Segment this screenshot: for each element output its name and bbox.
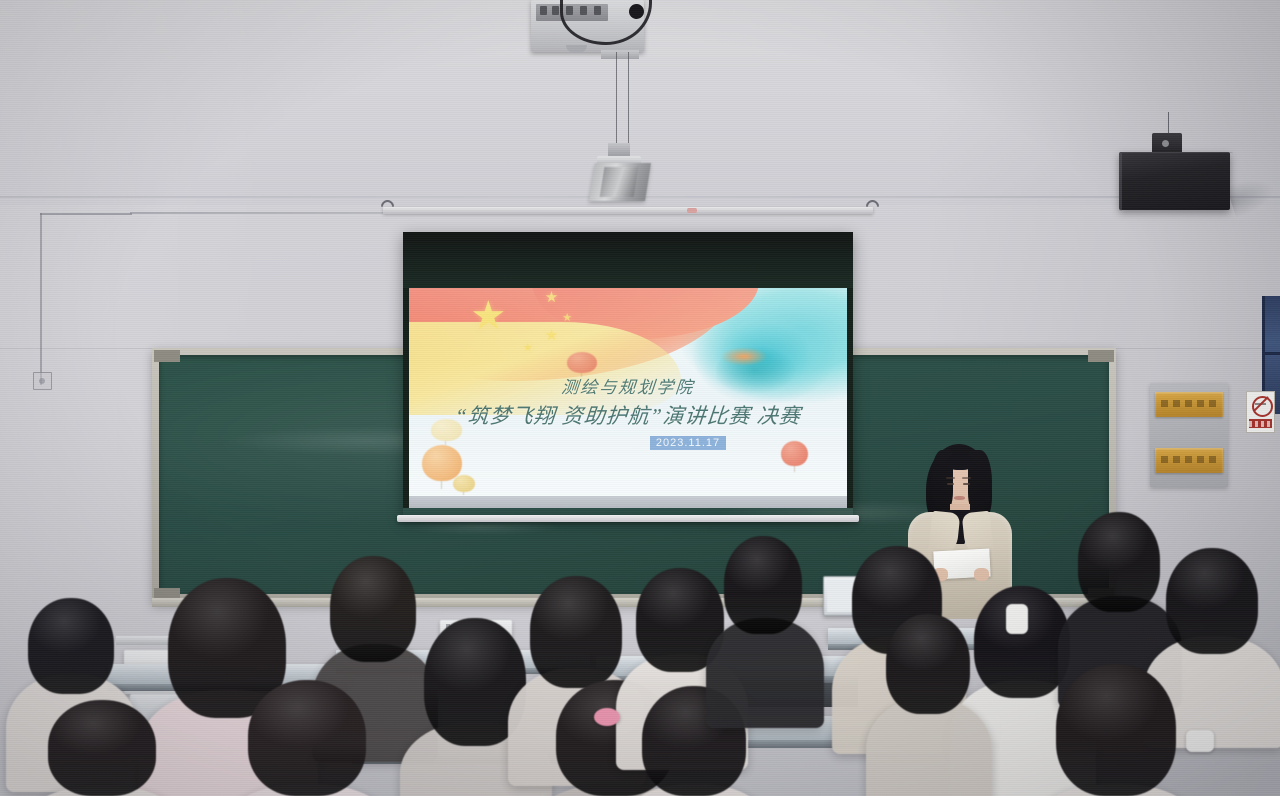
sign-label-text xyxy=(1249,421,1272,427)
flag-star-icon: ★ xyxy=(562,313,572,324)
plaque-text-lines xyxy=(1161,400,1217,407)
slide-orange-blob xyxy=(720,347,768,366)
light-tube xyxy=(600,167,639,197)
hanging-wire xyxy=(628,52,629,144)
audience-member-head xyxy=(886,614,970,714)
audience-member-head xyxy=(1166,548,1258,654)
audience-member-hair xyxy=(1078,512,1160,612)
light-mount xyxy=(608,143,630,156)
projector-knob xyxy=(629,4,644,19)
speaker-bracket-screw xyxy=(1162,140,1169,147)
wall-plaque xyxy=(1155,392,1223,417)
speaker-edge xyxy=(1119,152,1233,211)
audience-member-hair xyxy=(886,614,970,714)
presenter-hand xyxy=(974,568,989,581)
hair-clip xyxy=(1186,730,1214,752)
wall-plaque xyxy=(1155,448,1223,473)
flag-star-icon: ★ xyxy=(523,343,533,354)
audience-member-hair xyxy=(48,700,156,796)
flag-star-icon: ★ xyxy=(545,328,558,343)
balloon-icon xyxy=(567,352,598,373)
hanging-wire xyxy=(616,52,617,144)
audience-member-hair xyxy=(530,576,622,688)
blackboard-corner xyxy=(154,350,180,362)
audience-member-hair xyxy=(28,598,114,694)
slide-title-line2: “筑梦飞翔 资助护航”演讲比赛 决赛 xyxy=(409,400,847,430)
projector-port xyxy=(552,6,559,15)
audience-member-hair xyxy=(330,556,416,662)
flag-star-icon: ★ xyxy=(470,296,506,336)
audience-member-head xyxy=(1056,664,1176,796)
blackboard-corner xyxy=(1088,350,1114,362)
screen-bottom-strip xyxy=(409,496,847,508)
window-mullion xyxy=(1262,352,1280,355)
audience-member-hair xyxy=(248,680,366,796)
audience-member-body xyxy=(706,618,824,728)
audience-member-hair xyxy=(1056,664,1176,796)
rail-marker xyxy=(687,208,697,213)
conduit-horizontal xyxy=(40,213,132,215)
audience-member-hair xyxy=(724,536,802,634)
presenter-brow xyxy=(946,477,955,479)
projector-port xyxy=(540,6,547,15)
audience-member-hair xyxy=(1166,548,1258,654)
hair-clip xyxy=(1006,604,1028,634)
balloon-icon xyxy=(453,475,475,492)
balloon-icon xyxy=(422,445,461,481)
slide-title-line1: 测绘与规划学院 xyxy=(409,373,847,398)
audience-member-head xyxy=(48,700,156,796)
balloon-icon xyxy=(781,441,807,466)
screen-top-band xyxy=(403,232,853,288)
conduit-vertical xyxy=(40,213,42,385)
audience-member-head xyxy=(530,576,622,688)
classroom-photo: ★ ★ ★ ★ ★ 测绘与规划学院 “筑梦飞翔 资助护航”演讲比赛 决赛 202… xyxy=(0,0,1280,796)
audience-member-head xyxy=(28,598,114,694)
no-smoking-sign xyxy=(1246,391,1275,433)
screen-edge-right xyxy=(847,288,853,508)
presenter-mouth xyxy=(954,496,965,500)
presentation-slide: ★ ★ ★ ★ ★ 测绘与规划学院 “筑梦飞翔 资助护航”演讲比赛 决赛 202… xyxy=(409,288,847,500)
presenter-bangs xyxy=(946,454,974,470)
slide-title-block: 测绘与规划学院 “筑梦飞翔 资助护航”演讲比赛 决赛 xyxy=(409,373,847,430)
electrical-box-icon xyxy=(33,372,52,390)
audience-member-head xyxy=(330,556,416,662)
audience-member-head xyxy=(724,536,802,634)
projection-screen: ★ ★ ★ ★ ★ 测绘与规划学院 “筑梦飞翔 资助护航”演讲比赛 决赛 202… xyxy=(403,232,853,518)
audience-member-head xyxy=(248,680,366,796)
audience-member-head xyxy=(1078,512,1160,612)
presenter-eye xyxy=(963,483,970,485)
plaque-text-lines xyxy=(1161,456,1217,463)
screen-rail xyxy=(383,207,873,214)
flag-star-icon: ★ xyxy=(545,290,558,305)
slide-date-badge: 2023.11.17 xyxy=(650,436,726,450)
slide-area: ★ ★ ★ ★ ★ 测绘与规划学院 “筑梦飞翔 资助护航”演讲比赛 决赛 202… xyxy=(409,288,847,500)
projector-mount xyxy=(601,50,639,59)
screen-weight-bar xyxy=(397,515,859,522)
presenter-eye xyxy=(947,483,954,485)
hair-tie xyxy=(594,708,620,726)
presenter-brow xyxy=(962,477,971,479)
